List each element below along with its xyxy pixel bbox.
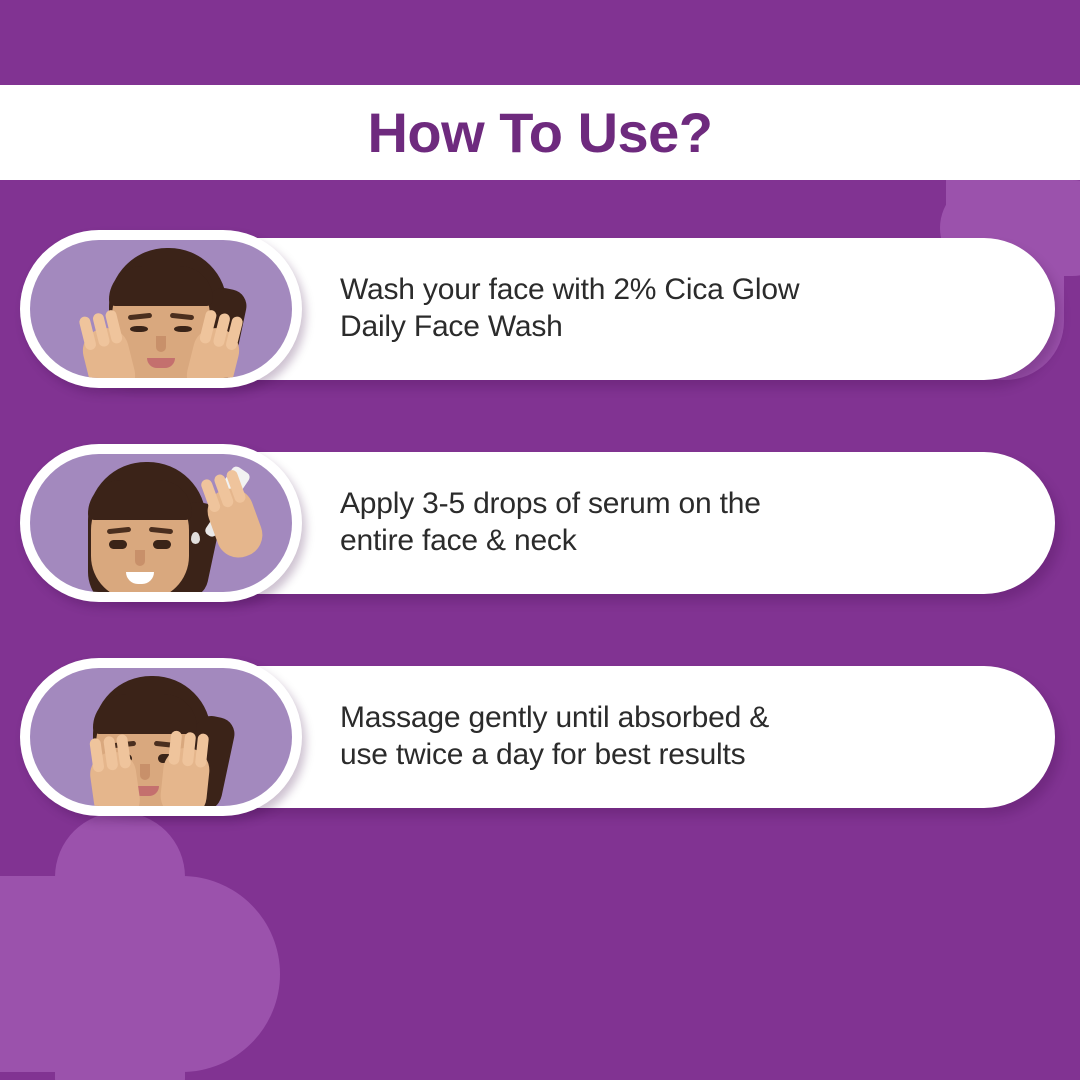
- photo-frame: [30, 454, 292, 592]
- applying-serum-photo: [20, 444, 302, 602]
- step-text-line2: use twice a day for best results: [340, 737, 769, 774]
- photo-frame: [30, 240, 292, 378]
- step-text-line1: Wash your face with 2% Cica Glow: [340, 272, 799, 309]
- serum-drop-icon: [191, 532, 200, 544]
- face-illustration: [30, 240, 292, 378]
- massaging-face-photo: [20, 658, 302, 816]
- header-band: How To Use?: [0, 85, 1080, 180]
- page-title: How To Use?: [367, 105, 712, 161]
- step-text-line2: entire face & neck: [340, 523, 761, 560]
- step-text: Apply 3-5 drops of serum on the entire f…: [340, 486, 761, 559]
- step-text-line1: Apply 3-5 drops of serum on the: [340, 486, 761, 523]
- step-text: Wash your face with 2% Cica Glow Daily F…: [340, 272, 799, 345]
- step-text-line1: Massage gently until absorbed &: [340, 700, 769, 737]
- face-illustration: [30, 454, 292, 592]
- face-illustration: [30, 668, 292, 806]
- photo-frame: [30, 668, 292, 806]
- bottom-left-cross-vertical-icon: [55, 812, 185, 1080]
- step-text: Massage gently until absorbed & use twic…: [340, 700, 769, 773]
- washing-face-photo: [20, 230, 302, 388]
- how-to-use-poster: How To Use? Wash your face with 2% Cica …: [0, 0, 1080, 1080]
- step-text-line2: Daily Face Wash: [340, 309, 799, 346]
